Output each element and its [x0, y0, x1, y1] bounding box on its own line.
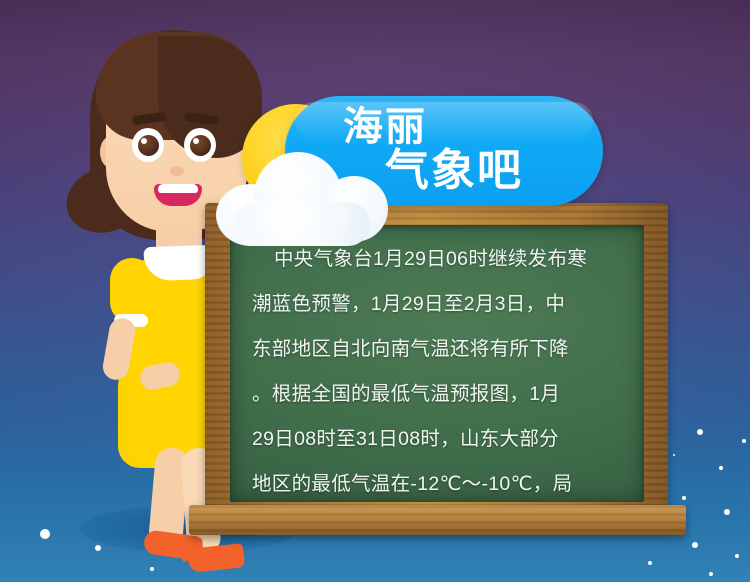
star-dot — [709, 572, 713, 576]
blackboard-line: 29日08时至31日08时，山东大部分 — [252, 417, 630, 462]
star-dot — [697, 429, 703, 435]
blackboard-line: 地区的最低气温在-12℃～-10℃，局 — [252, 462, 630, 502]
teeth — [158, 184, 198, 193]
star-dot — [719, 466, 723, 470]
weather-graphic-canvas: 中央气象台1月29日06时继续发布寒 潮蓝色预警，1月29日至2月3日，中 东部… — [0, 0, 750, 582]
blackboard-chalk-ledge — [189, 505, 686, 535]
blackboard-line: 潮蓝色预警，1月29日至2月3日，中 — [252, 282, 630, 327]
shoe-right — [187, 543, 245, 573]
star-dot — [648, 561, 652, 565]
star-dot — [735, 554, 739, 558]
nose — [170, 166, 184, 176]
blackboard-surface: 中央气象台1月29日06时继续发布寒 潮蓝色预警，1月29日至2月3日，中 东部… — [230, 225, 644, 502]
star-dot — [742, 439, 746, 443]
eye-glint-right — [193, 138, 199, 144]
star-dot — [150, 567, 154, 571]
blackboard: 中央气象台1月29日06时继续发布寒 潮蓝色预警，1月29日至2月3日，中 东部… — [205, 203, 668, 525]
blackboard-text: 中央气象台1月29日06时继续发布寒 潮蓝色预警，1月29日至2月3日，中 东部… — [252, 237, 630, 502]
eye-glint-left — [141, 138, 147, 144]
logo-title-line2: 气象吧 — [385, 144, 523, 198]
cloud-base — [234, 202, 370, 246]
cloud-icon — [216, 150, 388, 246]
star-dot — [673, 454, 675, 456]
star-dot — [692, 542, 698, 548]
blackboard-line: 东部地区自北向南气温还将有所下降 — [252, 327, 630, 372]
blackboard-line: 。根据全国的最低气温预报图，1月 — [252, 372, 630, 417]
star-dot — [724, 509, 730, 515]
star-dot — [682, 496, 686, 500]
